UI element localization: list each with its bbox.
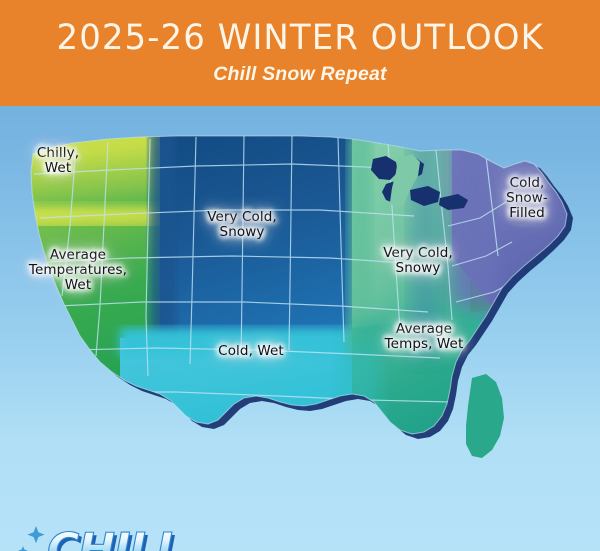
winter-outlook-poster: 2025-26 WINTER OUTLOOK Chill Snow Repeat — [0, 0, 600, 551]
page-title: 2025-26 WINTER OUTLOOK — [56, 21, 543, 56]
map-regions — [0, 106, 600, 551]
page-subtitle: Chill Snow Repeat — [213, 65, 387, 85]
florida — [466, 374, 504, 458]
chill-logo-line1: CHILL CHILL — [47, 524, 187, 551]
poster-header: 2025-26 WINTER OUTLOOK Chill Snow Repeat — [0, 0, 600, 106]
map-container: Chilly, Wet Average Temperatures, Wet Ve… — [0, 106, 600, 551]
us-winter-outlook-map — [0, 106, 600, 551]
chill-snow-repeat-logo: CHILL CHILL SNOW SNOW Repeat Repeat — [14, 510, 229, 551]
svg-text:CHILL: CHILL — [47, 524, 184, 551]
